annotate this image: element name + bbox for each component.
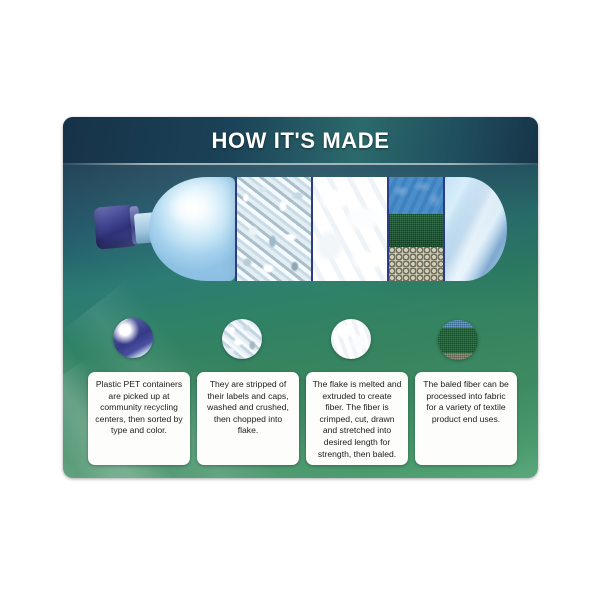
step-card-1: Plastic PET containers are picked up at … — [88, 372, 190, 465]
bottle-process-strip: PET bottle shoulder and cap crushed clea… — [95, 173, 507, 283]
step-card-3-text: The flake is melted and extruded to crea… — [313, 379, 402, 459]
plastic-flake-icon-circle — [222, 319, 262, 359]
strip-tile-fluff — [311, 177, 389, 281]
panel-header: HOW IT'S MADE — [63, 117, 538, 163]
bottle-base — [441, 177, 507, 281]
page-title: HOW IT'S MADE — [63, 128, 538, 154]
bottle-shoulder — [149, 177, 235, 281]
strip-segment-label-1: PET bottle shoulder and cap — [95, 173, 96, 174]
step-card-1-text: Plastic PET containers are picked up at … — [95, 379, 182, 435]
header-divider — [63, 163, 538, 165]
bottle-cap-icon-circle — [113, 318, 153, 358]
step-card-4-text: The baled fiber can be processed into fa… — [423, 379, 509, 424]
fiber-fluff-icon-circle — [331, 319, 371, 359]
baled-fiber-icon-circle — [438, 320, 478, 360]
how-its-made-panel: HOW IT'S MADE PET bottle shoulder and ca… — [63, 117, 538, 478]
strip-segment-label-4: blue fabric, green turf and gray pellet … — [95, 173, 96, 174]
strip-segment-label-2: crushed clear PET flake — [95, 173, 96, 174]
step-card-4: The baled fiber can be processed into fa… — [415, 372, 517, 465]
bottle-cap-icon — [93, 204, 137, 249]
step-card-2: They are stripped of their labels and ca… — [197, 372, 299, 465]
textile-green-turf — [389, 214, 443, 246]
strip-segment-label-5: PET bottle base — [95, 173, 96, 174]
step-card-2-text: They are stripped of their labels and ca… — [207, 379, 289, 435]
fiber-grain-texture — [438, 320, 478, 360]
infographic-canvas: HOW IT'S MADE PET bottle shoulder and ca… — [0, 0, 600, 600]
strip-segment-label-3: white melted fiber fluff — [95, 173, 96, 174]
step-card-3: The flake is melted and extruded to crea… — [306, 372, 408, 465]
textile-blue-fabric — [389, 177, 443, 214]
textile-gray-pellets — [389, 247, 443, 281]
strip-tile-textile — [387, 177, 445, 281]
strip-tile-flake — [235, 177, 313, 281]
